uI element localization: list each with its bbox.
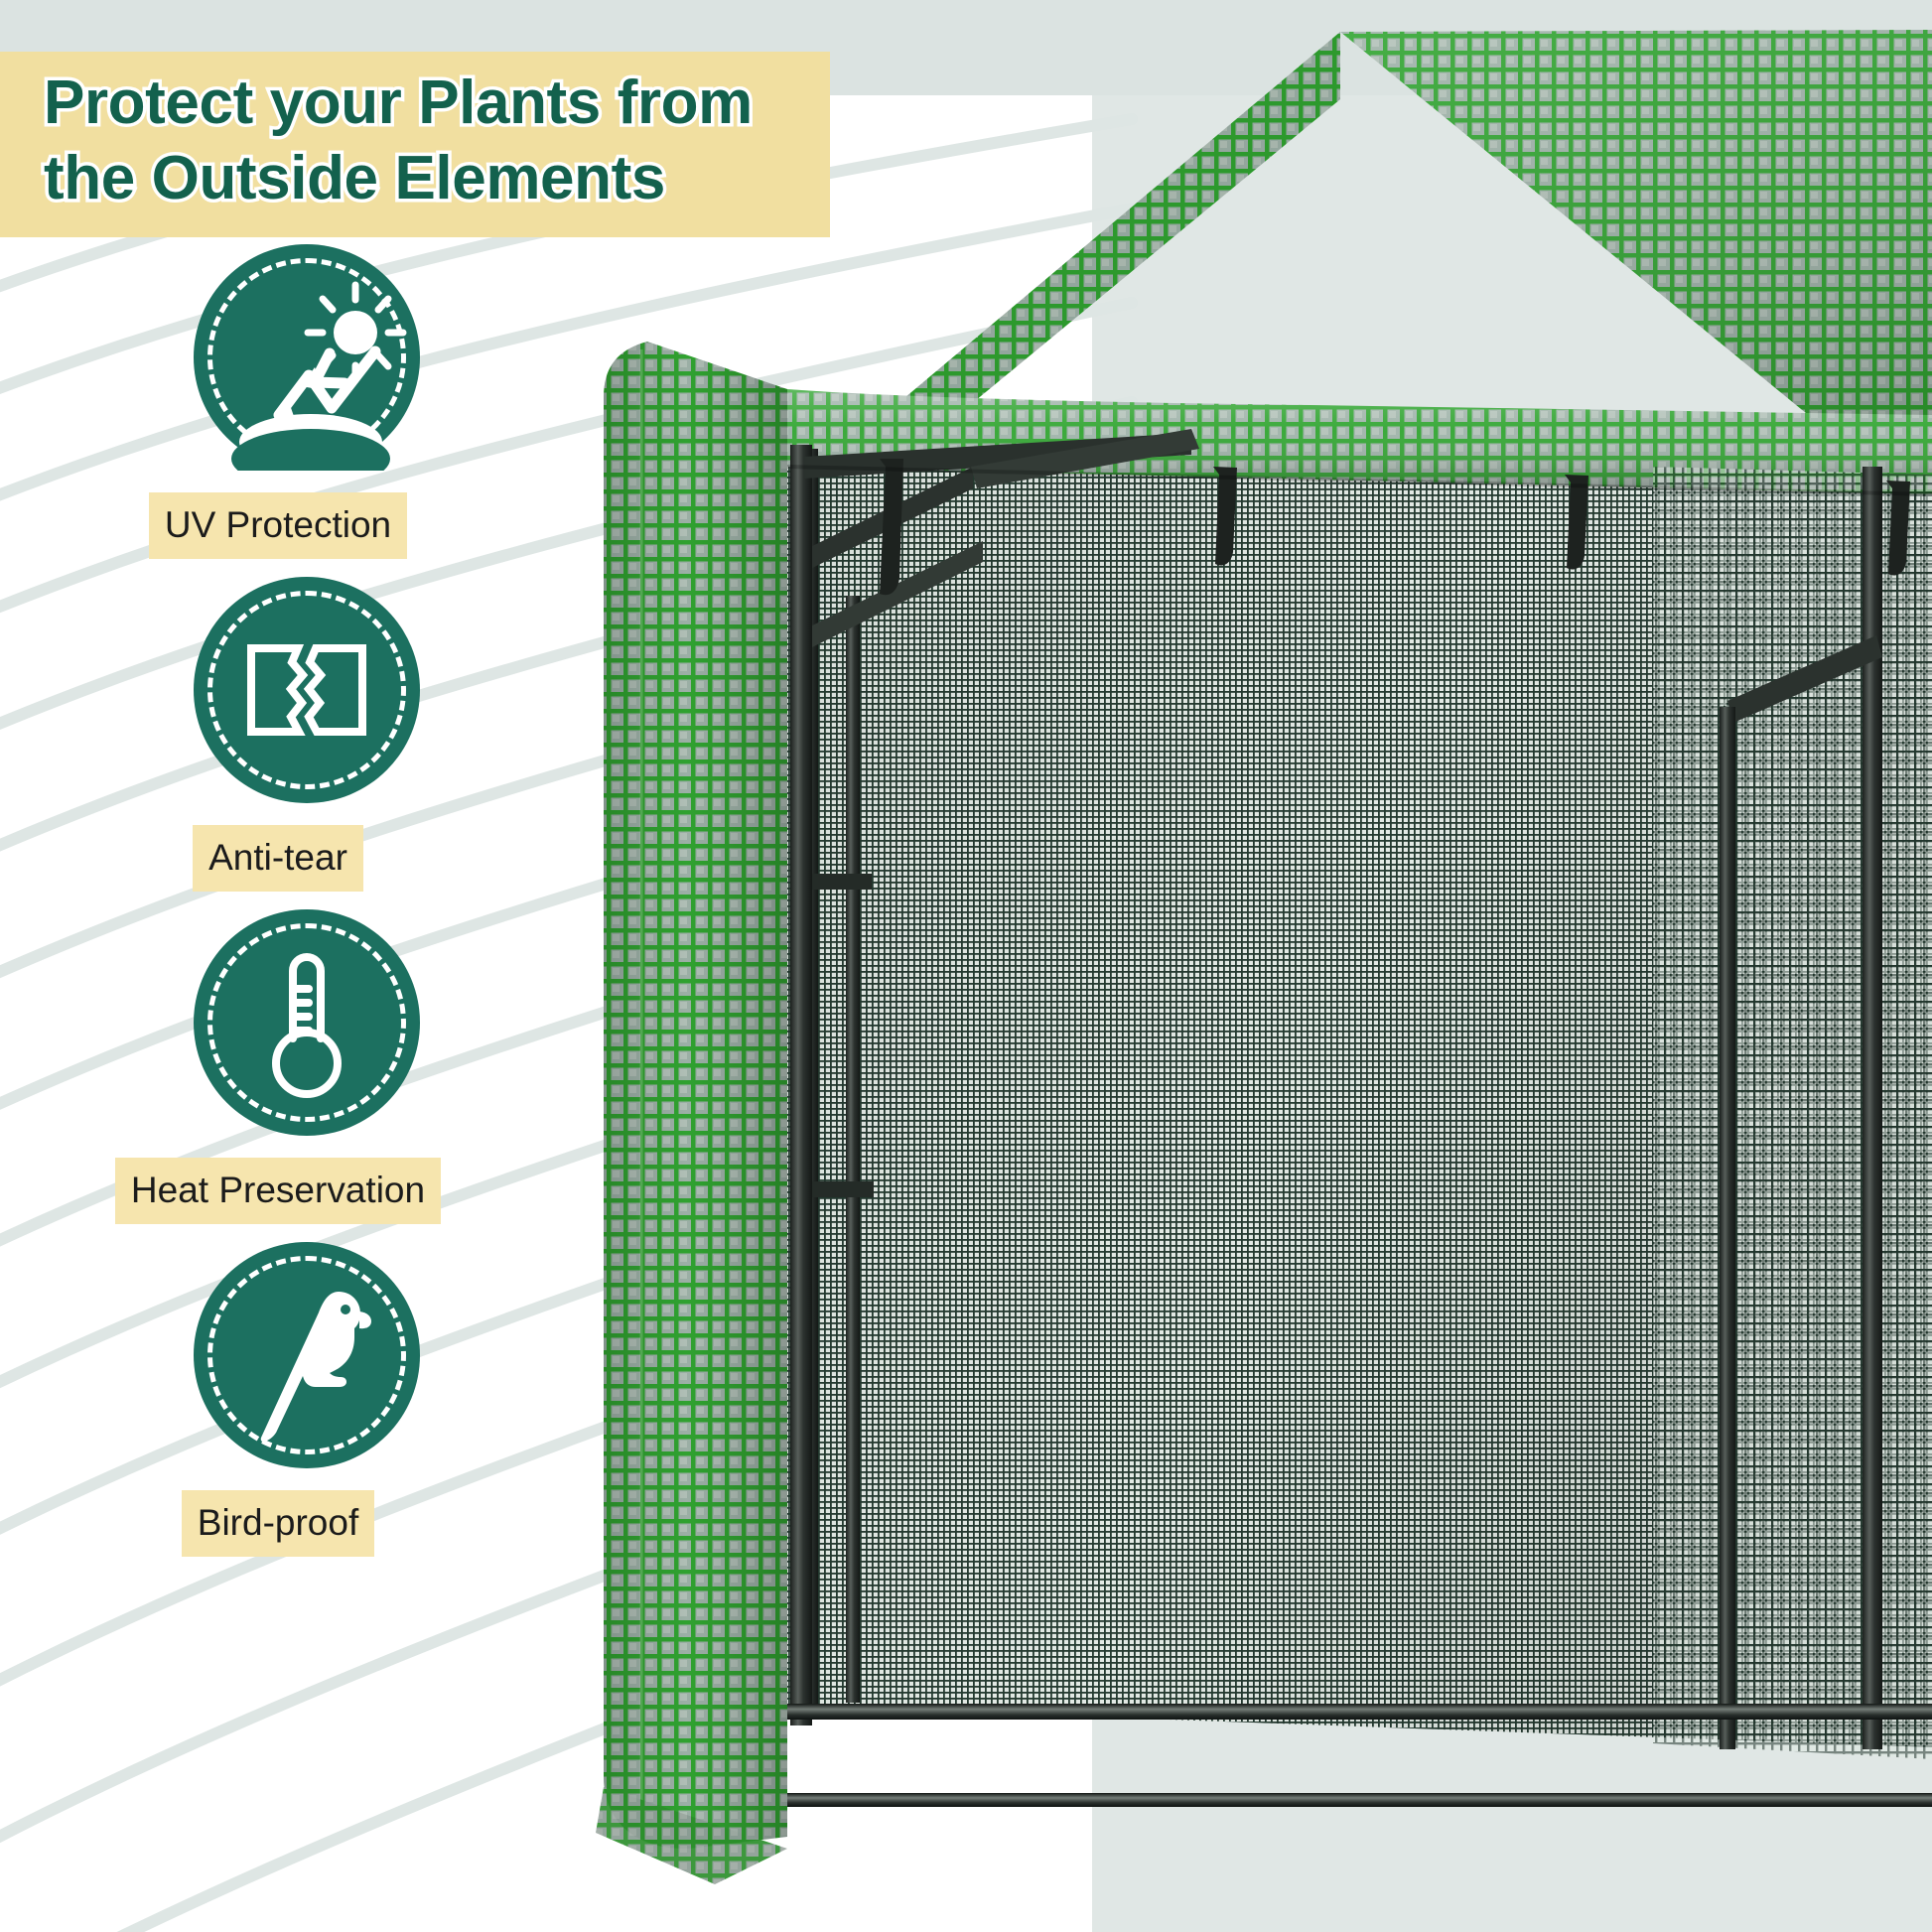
feature-item-heat-preservation: Heat Preservation — [0, 909, 556, 1237]
bird-parakeet-icon — [194, 1242, 420, 1468]
thermometer-icon — [194, 909, 420, 1136]
feature-item-bird-proof: Bird-proof — [0, 1242, 556, 1570]
feature-label: UV Protection — [149, 492, 407, 559]
feature-label-wrap: Bird-proof — [0, 1490, 556, 1557]
feature-label-wrap: UV Protection — [0, 492, 556, 559]
greenhouse-product-image — [556, 0, 1932, 1932]
feature-label-wrap: Anti-tear — [0, 825, 556, 892]
poster-canvas: Protect your Plants from the Outside Ele… — [0, 0, 1932, 1932]
uv-sun-shield-icon — [194, 244, 420, 471]
feature-label: Bird-proof — [182, 1490, 374, 1557]
feature-label-wrap: Heat Preservation — [0, 1158, 556, 1224]
feature-item-anti-tear: Anti-tear — [0, 577, 556, 904]
feature-item-uv-protection: UV Protection — [0, 244, 556, 572]
feature-label: Anti-tear — [193, 825, 363, 892]
greenhouse-left-side-wall — [596, 342, 787, 1884]
greenhouse-front-screen-panel — [1653, 467, 1932, 1759]
torn-fabric-icon — [194, 577, 420, 803]
feature-label: Heat Preservation — [115, 1158, 441, 1224]
